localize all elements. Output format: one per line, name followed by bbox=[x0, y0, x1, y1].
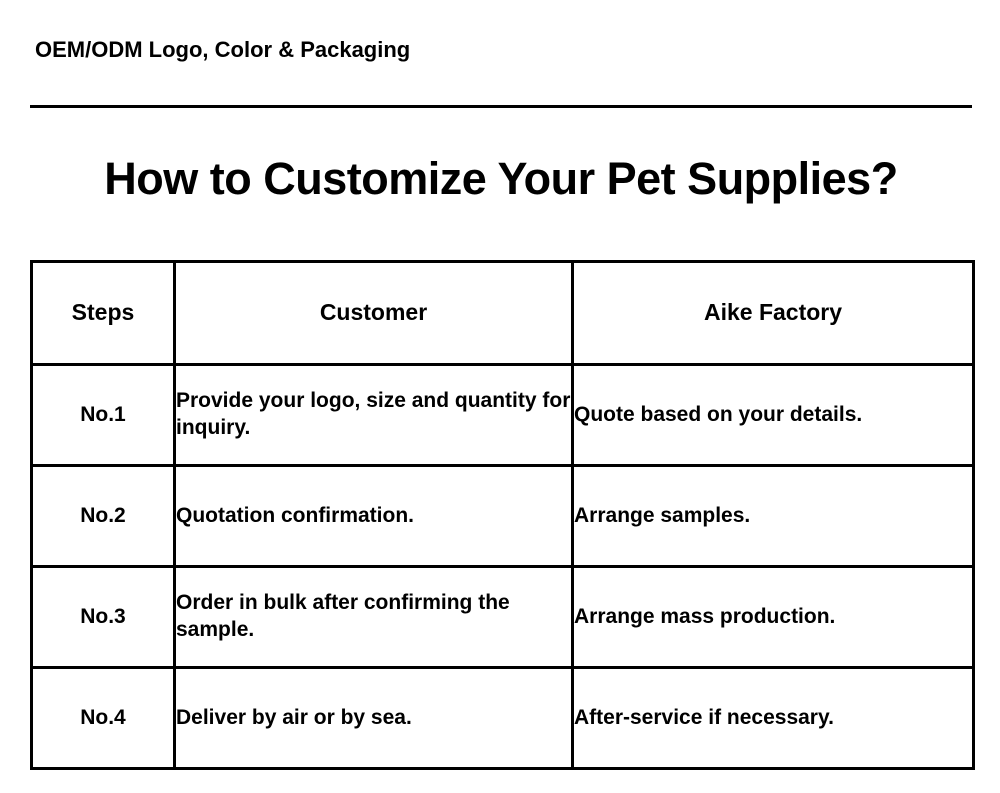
cell-step-number: No.2 bbox=[32, 466, 175, 567]
table-row: No.2 Quotation confirmation. Arrange sam… bbox=[32, 466, 974, 567]
cell-step-number: No.4 bbox=[32, 668, 175, 769]
cell-factory-action: Arrange mass production. bbox=[573, 567, 974, 668]
cell-factory-action: After-service if necessary. bbox=[573, 668, 974, 769]
page-root: OEM/ODM Logo, Color & Packaging How to C… bbox=[0, 0, 1000, 793]
table-header-row: Steps Customer Aike Factory bbox=[32, 262, 974, 365]
column-header-steps: Steps bbox=[32, 262, 175, 365]
table-body: No.1 Provide your logo, size and quantit… bbox=[32, 365, 974, 769]
cell-step-number: No.3 bbox=[32, 567, 175, 668]
table-row: No.1 Provide your logo, size and quantit… bbox=[32, 365, 974, 466]
cell-customer-action: Deliver by air or by sea. bbox=[175, 668, 573, 769]
cell-customer-action: Quotation confirmation. bbox=[175, 466, 573, 567]
table-row: No.4 Deliver by air or by sea. After-ser… bbox=[32, 668, 974, 769]
page-title: How to Customize Your Pet Supplies? bbox=[30, 153, 972, 205]
column-header-factory: Aike Factory bbox=[573, 262, 974, 365]
header-divider-rule bbox=[30, 105, 972, 108]
cell-customer-action: Order in bulk after confirming the sampl… bbox=[175, 567, 573, 668]
document-header-title: OEM/ODM Logo, Color & Packaging bbox=[35, 38, 410, 62]
cell-factory-action: Arrange samples. bbox=[573, 466, 974, 567]
cell-step-number: No.1 bbox=[32, 365, 175, 466]
customization-steps-table: Steps Customer Aike Factory No.1 Provide… bbox=[30, 260, 975, 770]
cell-factory-action: Quote based on your details. bbox=[573, 365, 974, 466]
table-header: Steps Customer Aike Factory bbox=[32, 262, 974, 365]
table-row: No.3 Order in bulk after confirming the … bbox=[32, 567, 974, 668]
column-header-customer: Customer bbox=[175, 262, 573, 365]
cell-customer-action: Provide your logo, size and quantity for… bbox=[175, 365, 573, 466]
